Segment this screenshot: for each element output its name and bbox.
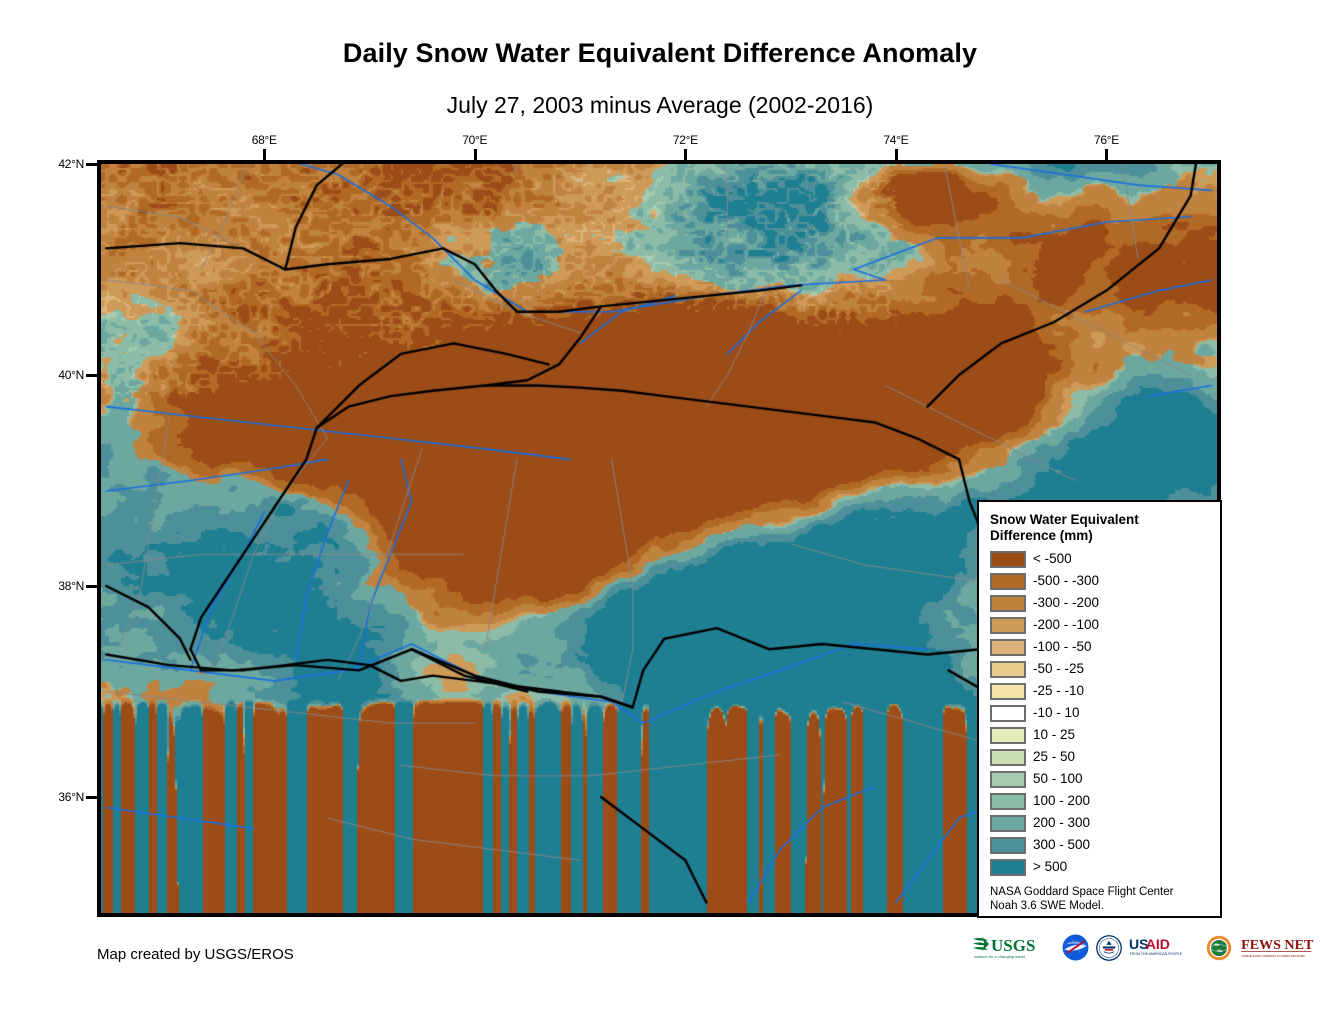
legend-class-label: 50 - 100	[1033, 772, 1083, 786]
legend-title: Snow Water Equivalent Difference (mm)	[990, 512, 1205, 543]
legend-color-swatch	[990, 815, 1026, 832]
legend-color-swatch	[990, 551, 1026, 568]
legend-source-line2: Noah 3.6 SWE Model.	[990, 900, 1205, 914]
longitude-tick-label: 70°E	[462, 133, 487, 147]
longitude-tick-label: 76°E	[1094, 133, 1119, 147]
latitude-tick	[86, 374, 97, 377]
svg-text:FAMINE EARLY WARNING SYSTEMS N: FAMINE EARLY WARNING SYSTEMS NETWORK	[1242, 953, 1306, 957]
longitude-tick	[895, 149, 898, 160]
map-credit: Map created by USGS/EROS	[97, 946, 294, 963]
legend-class-label: -10 - 10	[1033, 706, 1080, 720]
longitude-tick	[263, 149, 266, 160]
legend-class-row: 25 - 50	[990, 746, 1220, 768]
legend-class-row: < -500	[990, 548, 1220, 570]
legend-class-label: -25 - -10	[1033, 684, 1084, 698]
legend-class-row: 300 - 500	[990, 834, 1220, 856]
legend-class-label: 200 - 300	[1033, 816, 1090, 830]
legend-color-swatch	[990, 595, 1026, 612]
legend-class-label: -300 - -200	[1033, 596, 1099, 610]
legend-color-swatch	[990, 771, 1026, 788]
legend-class-label: -100 - -50	[1033, 640, 1092, 654]
latitude-tick	[86, 585, 97, 588]
legend-color-swatch	[990, 727, 1026, 744]
legend-color-swatch	[990, 617, 1026, 634]
legend-source-line1: NASA Goddard Space Flight Center	[990, 886, 1205, 900]
legend-class-label: < -500	[1033, 552, 1072, 566]
agency-logos: USGS science for a changing world US AID…	[972, 934, 1317, 961]
usaid-seal-icon	[1096, 935, 1122, 961]
legend-class-row: 10 - 25	[990, 724, 1220, 746]
legend-class-row: -300 - -200	[990, 592, 1220, 614]
legend-class-row: 200 - 300	[990, 812, 1220, 834]
legend-class-row: > 500	[990, 856, 1220, 878]
latitude-tick	[86, 163, 97, 166]
longitude-tick	[1105, 149, 1108, 160]
latitude-tick-label: 36°N	[58, 790, 84, 804]
svg-text:science for a changing world: science for a changing world	[974, 954, 1025, 959]
legend-class-label: -200 - -100	[1033, 618, 1099, 632]
latitude-tick	[86, 796, 97, 799]
usaid-wordmark: US AID FROM THE AMERICAN PEOPLE	[1129, 935, 1199, 961]
page-subtitle: July 27, 2003 minus Average (2002-2016)	[0, 92, 1320, 119]
longitude-tick-label: 68°E	[252, 133, 277, 147]
legend-color-swatch	[990, 837, 1026, 854]
longitude-tick-label: 74°E	[883, 133, 908, 147]
legend-class-row: -100 - -50	[990, 636, 1220, 658]
legend-color-swatch	[990, 859, 1026, 876]
legend-class-row: 50 - 100	[990, 768, 1220, 790]
legend-color-swatch	[990, 661, 1026, 678]
legend-class-row: -25 - -10	[990, 680, 1220, 702]
legend-panel: Snow Water Equivalent Difference (mm) < …	[977, 500, 1222, 918]
legend-color-swatch	[990, 749, 1026, 766]
latitude-tick-label: 38°N	[58, 579, 84, 593]
legend-class-row: -500 - -300	[990, 570, 1220, 592]
legend-class-label: 100 - 200	[1033, 794, 1090, 808]
legend-class-label: 10 - 25	[1033, 728, 1075, 742]
svg-text:AID: AID	[1146, 936, 1170, 952]
legend-color-swatch	[990, 793, 1026, 810]
usgs-logo: USGS science for a changing world	[972, 935, 1055, 961]
legend-class-label: -500 - -300	[1033, 574, 1099, 588]
legend-title-line1: Snow Water Equivalent	[990, 512, 1205, 528]
fewsnet-wordmark: FEWS NET FAMINE EARLY WARNING SYSTEMS NE…	[1239, 935, 1317, 961]
legend-class-row: -50 - -25	[990, 658, 1220, 680]
legend-class-row: 100 - 200	[990, 790, 1220, 812]
latitude-tick-label: 42°N	[58, 157, 84, 171]
legend-class-label: 25 - 50	[1033, 750, 1075, 764]
legend-source-note: NASA Goddard Space Flight Center Noah 3.…	[990, 886, 1205, 913]
legend-class-label: > 500	[1033, 860, 1067, 874]
legend-class-label: 300 - 500	[1033, 838, 1090, 852]
legend-class-label: -50 - -25	[1033, 662, 1084, 676]
page-title: Daily Snow Water Equivalent Difference A…	[0, 38, 1320, 69]
longitude-tick-label: 72°E	[673, 133, 698, 147]
legend-color-swatch	[990, 639, 1026, 656]
legend-color-swatch	[990, 705, 1026, 722]
fewsnet-globe-icon	[1206, 935, 1232, 961]
longitude-tick	[684, 149, 687, 160]
legend-title-line2: Difference (mm)	[990, 528, 1205, 544]
legend-color-swatch	[990, 573, 1026, 590]
legend-class-row: -200 - -100	[990, 614, 1220, 636]
svg-text:FROM THE AMERICAN PEOPLE: FROM THE AMERICAN PEOPLE	[1130, 952, 1183, 956]
legend-color-swatch	[990, 683, 1026, 700]
svg-text:FEWS NET: FEWS NET	[1241, 937, 1314, 953]
longitude-tick	[474, 149, 477, 160]
legend-class-row: -10 - 10	[990, 702, 1220, 724]
legend-class-list: < -500-500 - -300-300 - -200-200 - -100-…	[990, 548, 1220, 878]
nasa-logo	[1062, 934, 1089, 961]
svg-text:USGS: USGS	[991, 936, 1035, 955]
latitude-tick-label: 40°N	[58, 368, 84, 382]
